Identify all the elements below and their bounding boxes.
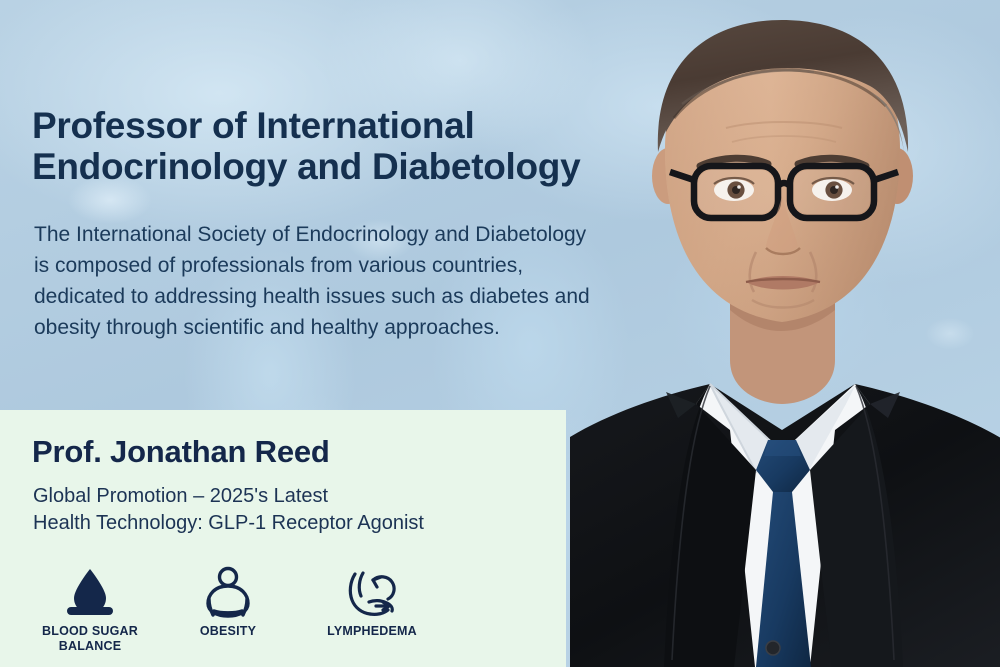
title-line-1: Professor of International xyxy=(32,105,474,146)
speaker-panel: Prof. Jonathan Reed Global Promotion – 2… xyxy=(0,410,566,667)
feature-lymphedema: LYMPHEDEMA xyxy=(302,565,442,639)
subtitle-line-1: Global Promotion – 2025's Latest xyxy=(33,485,328,507)
feature-blood-sugar-balance: BLOOD SUGAR BALANCE xyxy=(26,565,154,655)
feature-obesity: OBESITY xyxy=(176,565,280,639)
description-paragraph: The International Society of Endocrinolo… xyxy=(34,219,594,343)
feature-label: LYMPHEDEMA xyxy=(327,624,417,639)
promotional-banner: Professor of International Endocrinology… xyxy=(0,0,1000,667)
portrait-photo xyxy=(570,0,1000,667)
feature-label: BLOOD SUGAR BALANCE xyxy=(42,624,138,655)
feature-list: BLOOD SUGAR BALANCE OBESITY xyxy=(26,565,442,655)
speaker-name: Prof. Jonathan Reed xyxy=(32,434,330,470)
speaker-subtitle: Global Promotion – 2025's Latest Health … xyxy=(33,483,543,537)
hand-arrow-icon xyxy=(343,565,401,621)
blood-drop-icon xyxy=(62,565,118,621)
obese-person-icon xyxy=(201,565,255,621)
subtitle-line-2: Health Technology: GLP-1 Receptor Agonis… xyxy=(33,510,543,537)
feature-label: OBESITY xyxy=(200,624,256,639)
